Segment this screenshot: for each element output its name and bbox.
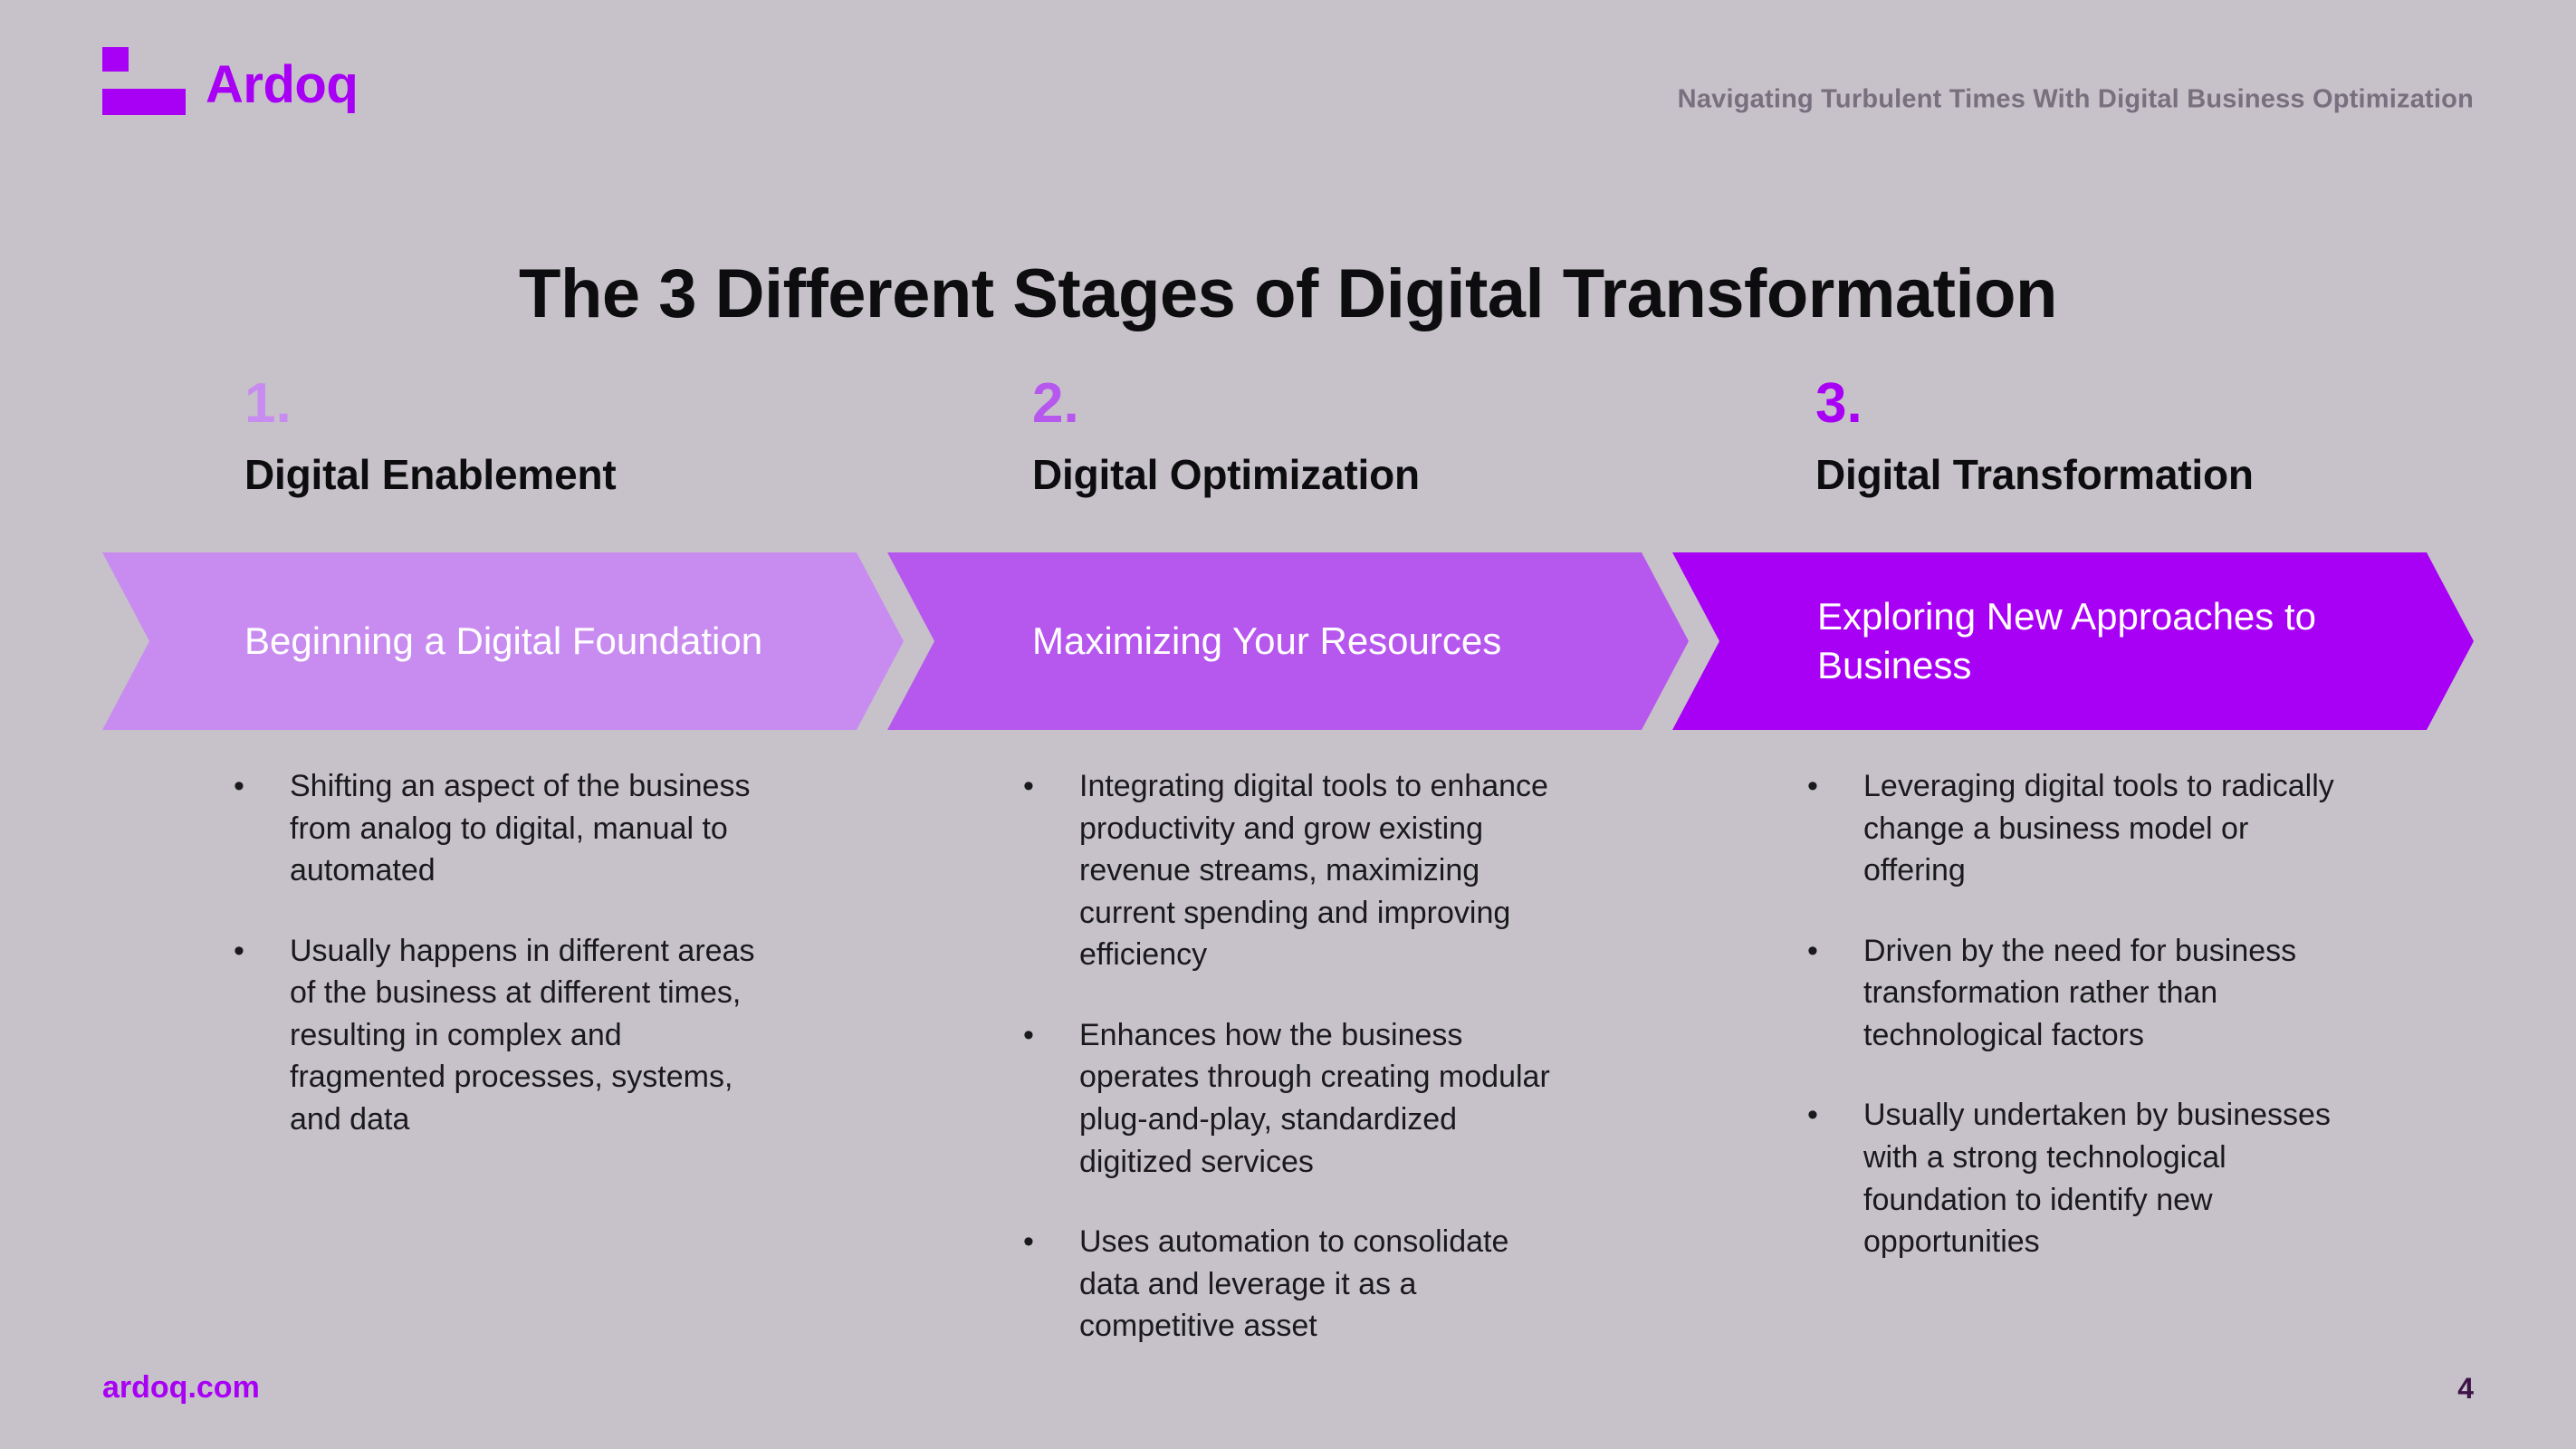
slide-footer: ardoq.com 4	[0, 1331, 2576, 1449]
chevron-banner-3: Exploring New Approaches to Business	[1672, 552, 2474, 730]
bullet-dot-icon: •	[1023, 765, 1079, 976]
bullet-dot-icon: •	[234, 930, 290, 1141]
bullet-text: Leveraging digital tools to radically ch…	[1863, 765, 2343, 892]
list-item: • Usually happens in different areas of …	[234, 930, 813, 1141]
bullet-dot-icon: •	[1807, 930, 1863, 1057]
list-item: • Uses automation to consolidate data an…	[1023, 1221, 1603, 1348]
bullet-dot-icon: •	[1807, 1094, 1863, 1262]
bullet-dot-icon: •	[234, 765, 290, 892]
footer-website-link[interactable]: ardoq.com	[102, 1370, 260, 1406]
bullet-list-stage-1: • Shifting an aspect of the business fro…	[234, 765, 813, 1179]
logo-square-small-icon	[102, 47, 129, 72]
chevron-banner-label-3: Exploring New Approaches to Business	[1672, 592, 2474, 690]
stage-chevron-banners: Beginning a Digital Foundation Maximizin…	[0, 552, 2576, 730]
page-number: 4	[2457, 1372, 2474, 1406]
stage-heading-3: 3. Digital Transformation	[1815, 376, 2576, 498]
list-item: • Integrating digital tools to enhance p…	[1023, 765, 1603, 976]
stage-number-3: 3.	[1815, 376, 2576, 432]
stage-number-1: 1.	[244, 376, 1032, 432]
bullet-text: Shifting an aspect of the business from …	[290, 765, 761, 892]
bullet-list-stage-3: • Leveraging digital tools to radically …	[1807, 765, 2387, 1301]
stage-title-3: Digital Transformation	[1815, 452, 2576, 498]
stage-heading-1: 1. Digital Enablement	[244, 376, 1032, 498]
bullet-text: Integrating digital tools to enhance pro…	[1079, 765, 1568, 976]
slide-header: Ardoq Navigating Turbulent Times With Di…	[0, 0, 2576, 154]
page-title: The 3 Different Stages of Digital Transf…	[0, 256, 2576, 332]
chevron-banner-label-1: Beginning a Digital Foundation	[102, 617, 817, 666]
stage-title-2: Digital Optimization	[1032, 452, 1820, 498]
bullet-text: Driven by the need for business transfor…	[1863, 930, 2343, 1057]
ardoq-logo-mark-icon	[102, 47, 186, 115]
bullet-text: Usually happens in different areas of th…	[290, 930, 761, 1141]
logo-bar-wide-icon	[102, 89, 186, 115]
list-item: • Usually undertaken by businesses with …	[1807, 1094, 2387, 1262]
chevron-banner-2: Maximizing Your Resources	[887, 552, 1689, 730]
bullet-dot-icon: •	[1807, 765, 1863, 892]
chevron-banner-label-2: Maximizing Your Resources	[887, 617, 1556, 666]
list-item: • Leveraging digital tools to radically …	[1807, 765, 2387, 892]
stage-bullet-lists: • Shifting an aspect of the business fro…	[0, 765, 2576, 1309]
stage-number-2: 2.	[1032, 376, 1820, 432]
stage-title-1: Digital Enablement	[244, 452, 1032, 498]
list-item: • Driven by the need for business transf…	[1807, 930, 2387, 1057]
list-item: • Shifting an aspect of the business fro…	[234, 765, 813, 892]
deck-title: Navigating Turbulent Times With Digital …	[1678, 85, 2474, 115]
bullet-text: Usually undertaken by businesses with a …	[1863, 1094, 2343, 1262]
bullet-dot-icon: •	[1023, 1014, 1079, 1183]
logo-wordmark: Ardoq	[206, 59, 358, 111]
bullet-text: Enhances how the business operates throu…	[1079, 1014, 1568, 1183]
list-item: • Enhances how the business operates thr…	[1023, 1014, 1603, 1183]
bullet-text: Uses automation to consolidate data and …	[1079, 1221, 1568, 1348]
stage-heading-2: 2. Digital Optimization	[1032, 376, 1820, 498]
chevron-banner-1: Beginning a Digital Foundation	[102, 552, 904, 730]
bullet-list-stage-2: • Integrating digital tools to enhance p…	[1023, 765, 1603, 1386]
ardoq-logo[interactable]: Ardoq	[102, 47, 358, 115]
bullet-dot-icon: •	[1023, 1221, 1079, 1348]
